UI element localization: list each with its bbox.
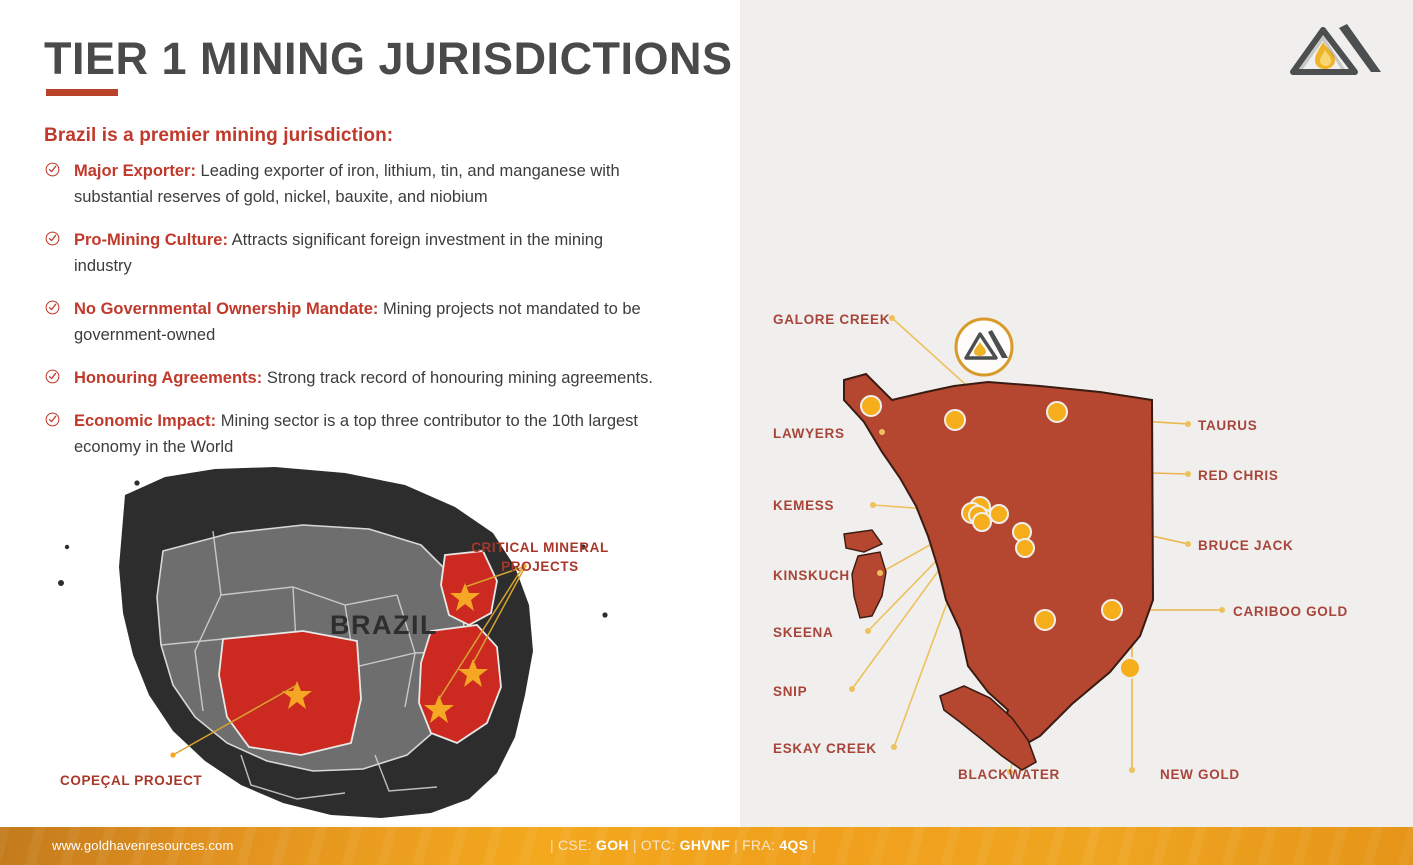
ticker-symbol-otc: GHVNF <box>680 837 731 853</box>
marker-top-center <box>945 410 965 430</box>
marker-new-gold <box>1120 658 1140 678</box>
bc-map-label-galore-creek: GALORE CREEK <box>773 312 890 327</box>
bc-map-label-kemess: KEMESS <box>773 498 834 513</box>
marker-bruce-jack-b <box>1016 539 1034 557</box>
bc-map-label-eskay-creek: ESKAY CREEK <box>773 741 877 756</box>
list-item: Honouring Agreements: Strong track recor… <box>44 365 659 391</box>
ticker-separator: | <box>546 837 558 853</box>
bc-map-label-taurus: TAURUS <box>1198 418 1257 433</box>
mountain-badge-icon <box>956 319 1012 375</box>
brazil-country-label: BRAZIL <box>330 610 438 641</box>
check-circle-icon <box>45 162 60 177</box>
left-panel: TIER 1 MINING JURISDICTIONS Brazil is a … <box>0 0 738 827</box>
bc-map-label-new-gold: NEW GOLD <box>1160 767 1240 782</box>
bc-map-label-kinskuch: KINSKUCH <box>773 568 850 583</box>
list-item: Pro-Mining Culture: Attracts significant… <box>44 227 659 279</box>
british-columbia-map: GALORE CREEK LAWYERS KEMESS KINSKUCH SKE… <box>740 300 1413 827</box>
marker-galore-creek <box>861 396 881 416</box>
slide-root: TIER 1 MINING JURISDICTIONS Brazil is a … <box>0 0 1413 865</box>
check-circle-icon <box>45 300 60 315</box>
list-item-lead: Major Exporter: <box>74 162 196 180</box>
right-panel: British Columbia is a premier mining jur… <box>740 0 1413 827</box>
footer-website-link[interactable]: www.goldhavenresources.com <box>52 838 234 853</box>
marker-bruce-jack <box>1013 523 1031 541</box>
brazil-subheading: Brazil is a premier mining jurisdiction: <box>44 125 393 147</box>
haida-gwaii <box>852 552 886 618</box>
list-item-lead: No Governmental Ownership Mandate: <box>74 300 378 318</box>
bc-map-label-snip: SNIP <box>773 684 807 699</box>
list-item-lead: Economic Impact: <box>74 412 216 430</box>
ticker-separator: | <box>629 837 641 853</box>
footer-ticker-list: |CSE: GOH|OTC: GHVNF|FRA: 4QS| <box>546 837 820 853</box>
bc-map-label-lawyers: LAWYERS <box>773 426 845 441</box>
bc-map-label-red-chris: RED CHRIS <box>1198 468 1279 483</box>
brazil-map: BRAZIL CRITICAL MINERAL PROJECTS COPEÇAL… <box>45 455 645 820</box>
mountain-flame-logo <box>1285 22 1385 83</box>
list-item: Economic Impact: Mining sector is a top … <box>44 408 659 460</box>
marker-red-chris <box>990 505 1008 523</box>
title-accent-rule <box>46 89 118 96</box>
page-title: TIER 1 MINING JURISDICTIONS <box>44 33 733 85</box>
ticker-symbol-fra: 4QS <box>779 837 808 853</box>
bc-map-label-skeena: SKEENA <box>773 625 833 640</box>
list-item-text: Strong track record of honouring mining … <box>262 369 653 387</box>
list-item-lead: Pro-Mining Culture: <box>74 231 228 249</box>
brazil-bullet-list: Major Exporter: Leading exporter of iron… <box>44 158 659 477</box>
check-circle-icon <box>45 231 60 246</box>
footer-bar: www.goldhavenresources.com |CSE: GOH|OTC… <box>0 827 1413 865</box>
bc-map-label-bruce-jack: BRUCE JACK <box>1198 538 1294 553</box>
ticker-symbol-cse: GOH <box>596 837 629 853</box>
check-circle-icon <box>45 369 60 384</box>
ticker-separator: | <box>808 837 820 853</box>
bc-map-label-blackwater: BLACKWATER <box>958 767 1060 782</box>
ticker-exchange-cse: CSE: <box>558 837 592 853</box>
marker-cariboo-gold <box>1102 600 1122 620</box>
ticker-exchange-otc: OTC: <box>641 837 676 853</box>
map-label-critical-mineral-projects: CRITICAL MINERAL PROJECTS <box>465 538 615 576</box>
map-label-copecal-project: COPEÇAL PROJECT <box>60 773 202 788</box>
marker-blackwater <box>1035 610 1055 630</box>
marker-skeena <box>973 513 991 531</box>
check-circle-icon <box>45 412 60 427</box>
bc-map-label-cariboo-gold: CARIBOO GOLD <box>1233 604 1348 619</box>
ticker-separator: | <box>730 837 742 853</box>
haida-gwaii-north <box>844 530 882 552</box>
ticker-exchange-fra: FRA: <box>742 837 775 853</box>
list-item-lead: Honouring Agreements: <box>74 369 262 387</box>
list-item: Major Exporter: Leading exporter of iron… <box>44 158 659 210</box>
list-item: No Governmental Ownership Mandate: Minin… <box>44 296 659 348</box>
marker-taurus <box>1047 402 1067 422</box>
